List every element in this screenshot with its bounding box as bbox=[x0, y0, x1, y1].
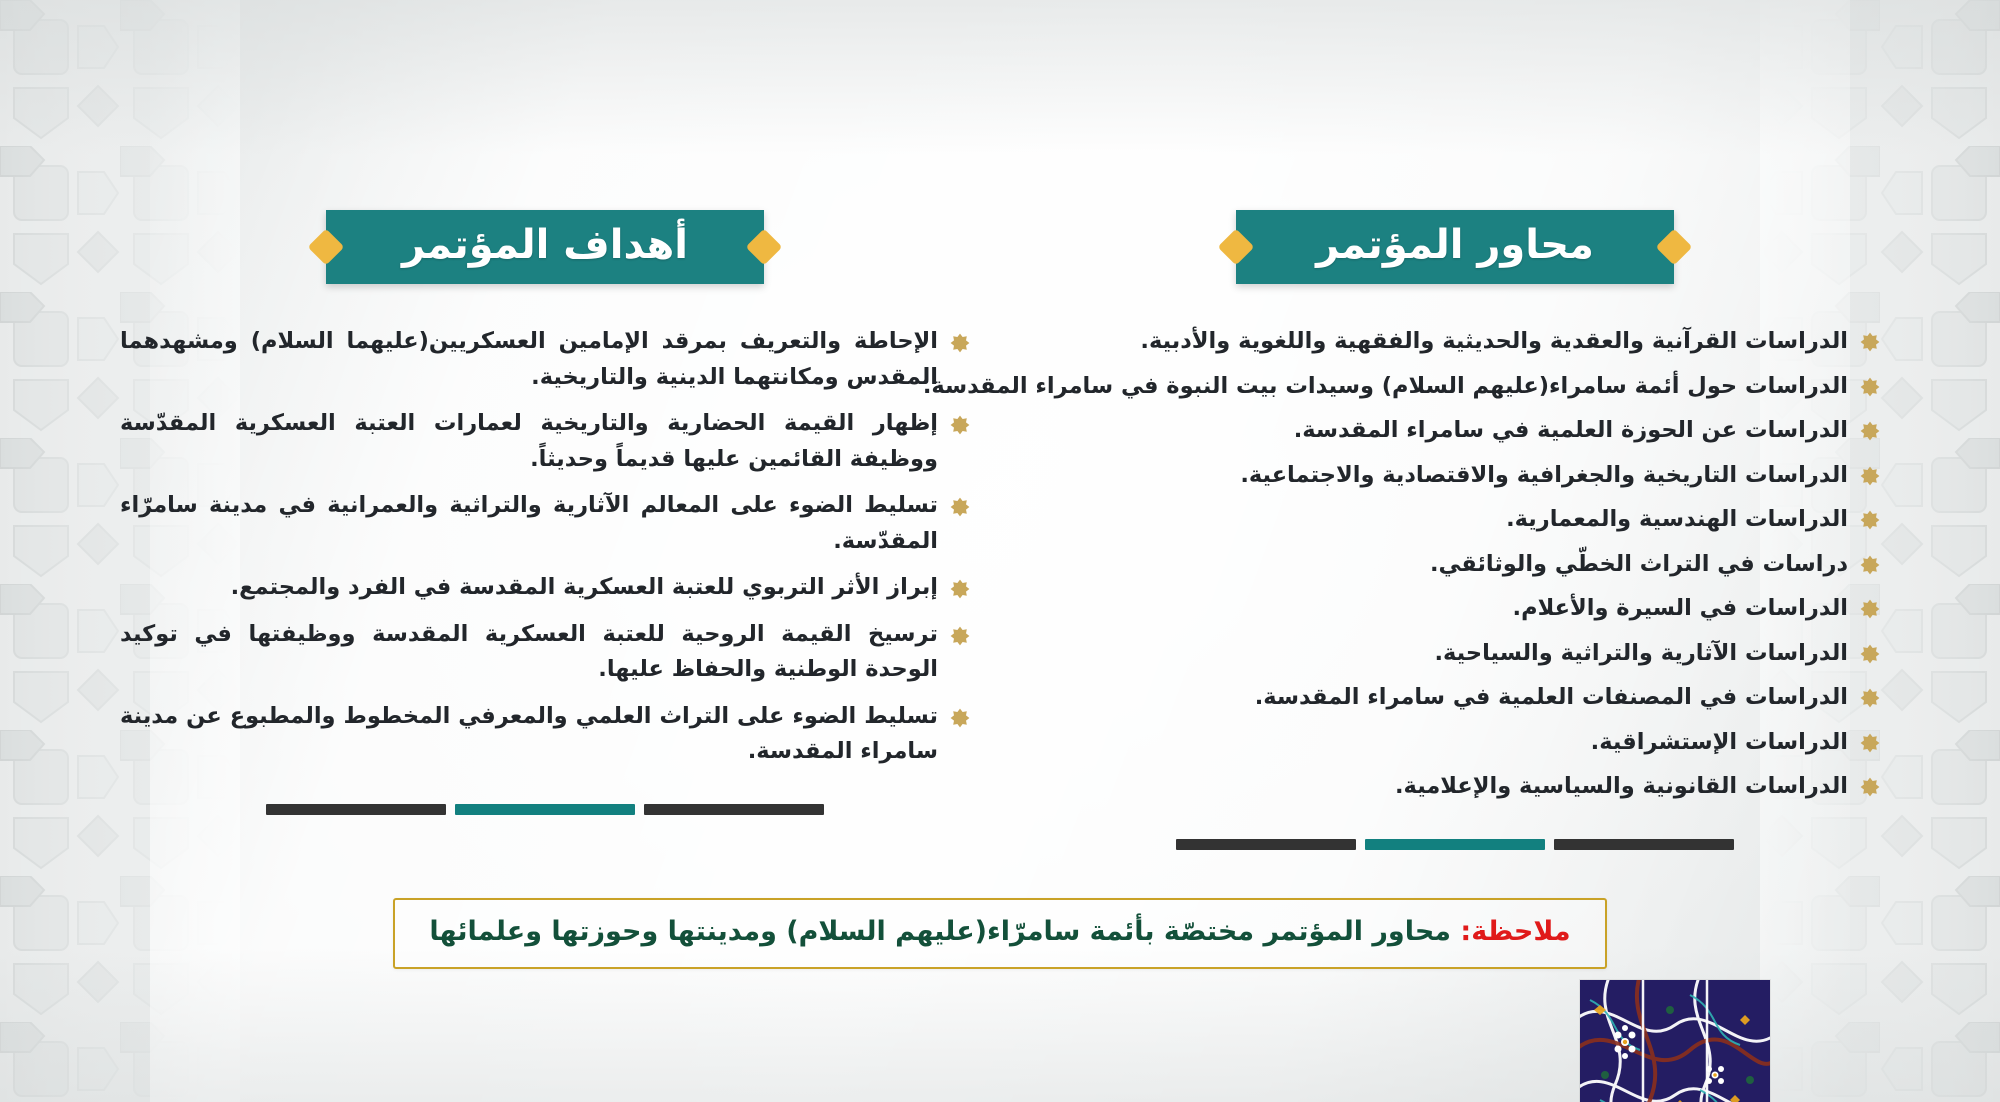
eight-point-star-icon bbox=[1860, 644, 1880, 664]
list-item: الدراسات القانونية والسياسية والإعلامية. bbox=[1030, 769, 1880, 805]
list-item-text: الدراسات القرآنية والعقدية والحديثية وال… bbox=[1030, 324, 1848, 360]
list-item-text: الدراسات التاريخية والجغرافية والاقتصادي… bbox=[1030, 458, 1848, 494]
list-item: تسليط الضوء على المعالم الآثارية والتراث… bbox=[120, 488, 970, 559]
list-item: ترسيخ القيمة الروحية للعتبة العسكرية الم… bbox=[120, 617, 970, 688]
list-item: الدراسات القرآنية والعقدية والحديثية وال… bbox=[1030, 324, 1880, 360]
eight-point-star-icon bbox=[950, 579, 970, 599]
list-item: الدراسات الإستشراقية. bbox=[1030, 725, 1880, 761]
eight-point-star-icon bbox=[950, 415, 970, 435]
list-item-text: الدراسات عن الحوزة العلمية في سامراء الم… bbox=[1030, 413, 1848, 449]
themes-heading-title: محاور المؤتمر bbox=[1290, 223, 1620, 267]
list-item: الدراسات في المصنفات العلمية في سامراء ا… bbox=[1030, 680, 1880, 716]
divider-segment-dark bbox=[266, 804, 446, 815]
note-line: ملاحظة: محاور المؤتمر مختصّة بأئمة سامرّ… bbox=[421, 914, 1579, 949]
list-item-text: الدراسات في المصنفات العلمية في سامراء ا… bbox=[1030, 680, 1848, 716]
objectives-heading-ribbon: أهداف المؤتمر bbox=[326, 210, 764, 284]
eight-point-star-icon bbox=[950, 497, 970, 517]
themes-list: الدراسات القرآنية والعقدية والحديثية وال… bbox=[1030, 324, 1880, 805]
list-item-text: الدراسات القانونية والسياسية والإعلامية. bbox=[1030, 769, 1848, 805]
divider-segment-dark bbox=[644, 804, 824, 815]
list-item: إبراز الأثر التربوي للعتبة العسكرية المق… bbox=[120, 570, 970, 606]
poster-content: محاور المؤتمر الدراسات القرآنية والعقدية… bbox=[0, 0, 2000, 1102]
themes-heading-ribbon: محاور المؤتمر bbox=[1236, 210, 1674, 284]
islamic-tile-ornament-icon bbox=[1580, 980, 1770, 1102]
eight-point-star-icon bbox=[950, 626, 970, 646]
list-item-text: إظهار القيمة الحضارية والتاريخية لعمارات… bbox=[120, 406, 938, 477]
diamond-ornament-icon bbox=[1656, 229, 1693, 266]
themes-divider bbox=[1030, 839, 1880, 850]
objectives-section: أهداف المؤتمر الإحاطة والتعريف بمرقد الإ… bbox=[120, 210, 970, 815]
list-item: دراسات في التراث الخطّي والوثائقي. bbox=[1030, 547, 1880, 583]
list-item-text: ترسيخ القيمة الروحية للعتبة العسكرية الم… bbox=[120, 617, 938, 688]
divider-segment-teal bbox=[455, 804, 635, 815]
list-item-text: الدراسات الهندسية والمعمارية. bbox=[1030, 502, 1848, 538]
list-item: تسليط الضوء على التراث العلمي والمعرفي ا… bbox=[120, 699, 970, 770]
objectives-heading-title: أهداف المؤتمر bbox=[380, 223, 710, 267]
note-box: ملاحظة: محاور المؤتمر مختصّة بأئمة سامرّ… bbox=[393, 898, 1607, 969]
eight-point-star-icon bbox=[1860, 733, 1880, 753]
list-item-text: تسليط الضوء على المعالم الآثارية والتراث… bbox=[120, 488, 938, 559]
divider-segment-teal bbox=[1365, 839, 1545, 850]
list-item: الدراسات في السيرة والأعلام. bbox=[1030, 591, 1880, 627]
eight-point-star-icon bbox=[950, 333, 970, 353]
list-item: الدراسات الآثارية والتراثية والسياحية. bbox=[1030, 636, 1880, 672]
list-item-text: إبراز الأثر التربوي للعتبة العسكرية المق… bbox=[120, 570, 938, 606]
diamond-ornament-icon bbox=[1218, 229, 1255, 266]
eight-point-star-icon bbox=[1860, 777, 1880, 797]
diamond-ornament-icon bbox=[308, 229, 345, 266]
list-item-text: الدراسات في السيرة والأعلام. bbox=[1030, 591, 1848, 627]
diamond-ornament-icon bbox=[746, 229, 783, 266]
objectives-list: الإحاطة والتعريف بمرقد الإمامين العسكريي… bbox=[120, 324, 970, 770]
eight-point-star-icon bbox=[1860, 599, 1880, 619]
list-item-text: تسليط الضوء على التراث العلمي والمعرفي ا… bbox=[120, 699, 938, 770]
list-item-text: الدراسات حول أئمة سامراء(عليهم السلام) و… bbox=[923, 369, 1848, 405]
eight-point-star-icon bbox=[1860, 377, 1880, 397]
list-item: الدراسات حول أئمة سامراء(عليهم السلام) و… bbox=[1030, 369, 1880, 405]
list-item: الدراسات التاريخية والجغرافية والاقتصادي… bbox=[1030, 458, 1880, 494]
note-label: ملاحظة: bbox=[1460, 916, 1570, 947]
list-item-text: الدراسات الإستشراقية. bbox=[1030, 725, 1848, 761]
list-item: الدراسات عن الحوزة العلمية في سامراء الم… bbox=[1030, 413, 1880, 449]
eight-point-star-icon bbox=[1860, 688, 1880, 708]
themes-section: محاور المؤتمر الدراسات القرآنية والعقدية… bbox=[1030, 210, 1880, 850]
objectives-heading-wrapper: أهداف المؤتمر bbox=[120, 210, 970, 284]
eight-point-star-icon bbox=[1860, 421, 1880, 441]
list-item-text: الدراسات الآثارية والتراثية والسياحية. bbox=[1030, 636, 1848, 672]
list-item: إظهار القيمة الحضارية والتاريخية لعمارات… bbox=[120, 406, 970, 477]
eight-point-star-icon bbox=[950, 708, 970, 728]
eight-point-star-icon bbox=[1860, 466, 1880, 486]
themes-heading-wrapper: محاور المؤتمر bbox=[1030, 210, 1880, 284]
eight-point-star-icon bbox=[1860, 332, 1880, 352]
note-text: محاور المؤتمر مختصّة بأئمة سامرّاء(عليهم… bbox=[429, 916, 1451, 947]
eight-point-star-icon bbox=[1860, 510, 1880, 530]
divider-segment-dark bbox=[1554, 839, 1734, 850]
objectives-divider bbox=[120, 804, 970, 815]
list-item: الدراسات الهندسية والمعمارية. bbox=[1030, 502, 1880, 538]
columns-wrapper: محاور المؤتمر الدراسات القرآنية والعقدية… bbox=[120, 210, 1880, 850]
divider-segment-dark bbox=[1176, 839, 1356, 850]
eight-point-star-icon bbox=[1860, 555, 1880, 575]
list-item-text: دراسات في التراث الخطّي والوثائقي. bbox=[1030, 547, 1848, 583]
list-item: الإحاطة والتعريف بمرقد الإمامين العسكريي… bbox=[120, 324, 970, 395]
list-item-text: الإحاطة والتعريف بمرقد الإمامين العسكريي… bbox=[120, 324, 938, 395]
